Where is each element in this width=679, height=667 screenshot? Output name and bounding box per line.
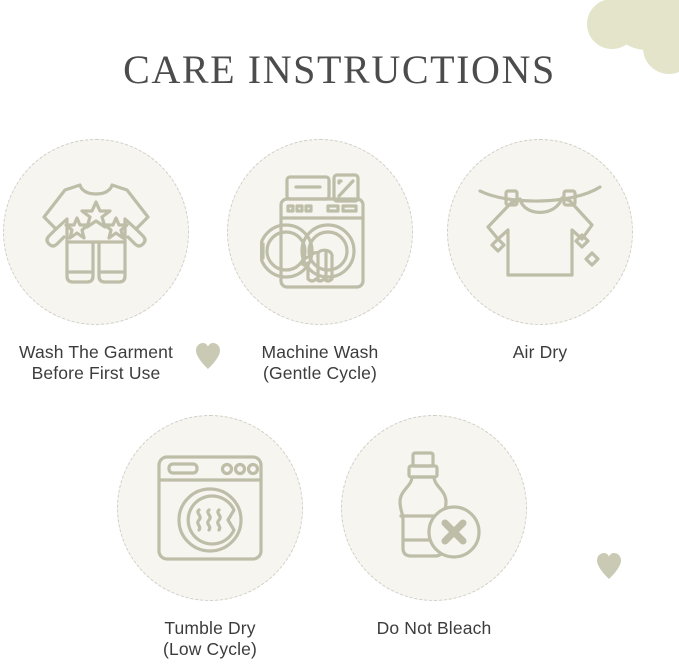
care-card-wash-first[interactable]: Wash The Garment Before First Use	[0, 139, 211, 384]
icon-disc	[117, 415, 303, 601]
icon-disc	[341, 415, 527, 601]
care-card-do-not-bleach[interactable]: Do Not Bleach	[319, 415, 549, 639]
care-card-label: Do Not Bleach	[319, 618, 549, 639]
page-title: CARE INSTRUCTIONS	[0, 46, 679, 93]
heart-decoration-icon	[596, 552, 622, 580]
icon-disc	[447, 139, 633, 325]
care-card-machine-wash[interactable]: Machine Wash (Gentle Cycle)	[205, 139, 435, 384]
care-card-label: Machine Wash (Gentle Cycle)	[205, 342, 435, 384]
tshirt-on-clothesline-icon	[478, 173, 602, 291]
care-card-label: Wash The Garment Before First Use	[0, 342, 211, 384]
icon-disc	[227, 139, 413, 325]
washing-machine-icon	[260, 171, 380, 293]
care-card-tumble-dry[interactable]: Tumble Dry (Low Cycle)	[95, 415, 325, 660]
care-instructions-infographic: CARE INSTRUCTIONS Wash The	[0, 0, 679, 667]
care-card-air-dry[interactable]: Air Dry	[425, 139, 655, 363]
care-card-label: Tumble Dry (Low Cycle)	[95, 618, 325, 660]
bleach-bottle-prohibited-icon	[378, 450, 490, 566]
icon-disc	[3, 139, 189, 325]
tumble-dryer-icon	[154, 452, 266, 564]
baby-onesie-with-stars-icon	[37, 172, 155, 292]
care-card-label: Air Dry	[425, 342, 655, 363]
